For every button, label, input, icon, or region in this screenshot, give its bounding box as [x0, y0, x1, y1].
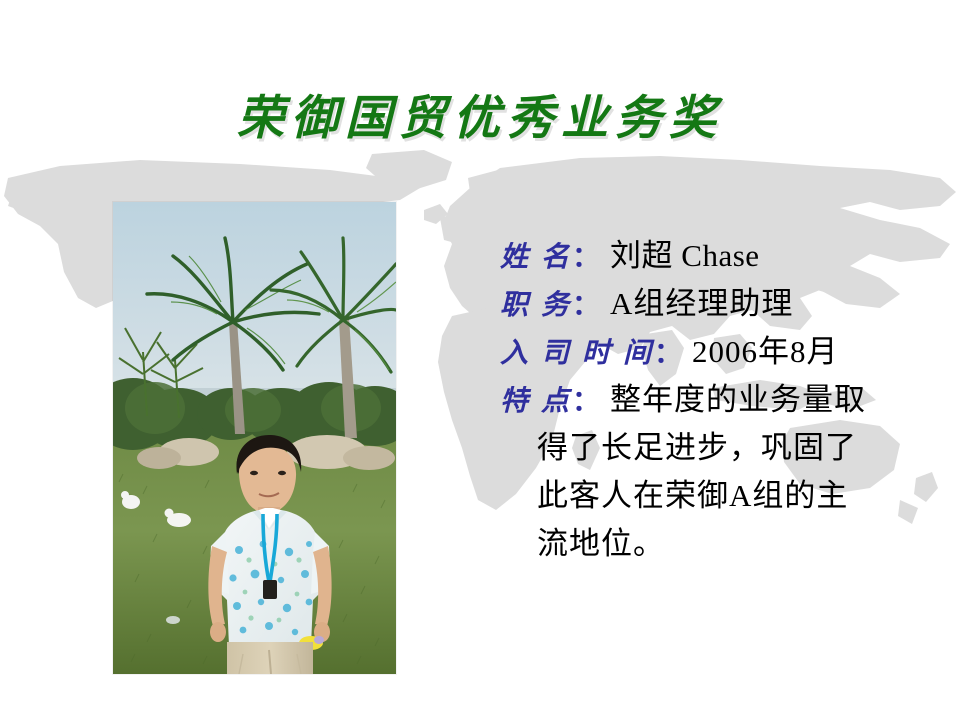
info-label-name: 姓 名 — [500, 242, 572, 273]
info-feature-line-3: 此客人在荣御A组的主 — [500, 472, 920, 520]
info-row-join-date: 入 司 时 间：2006年8月 — [500, 328, 920, 376]
info-label-join-date: 入 司 时 间 — [500, 338, 654, 369]
info-label-feature: 特 点 — [500, 386, 572, 417]
info-feature-text-3: 此客人在荣御A组的主 — [537, 478, 848, 513]
info-row-feature: 特 点：整年度的业务量取 — [500, 376, 920, 424]
info-row-position: 职 务：A组经理助理 — [500, 280, 920, 328]
info-colon-feature: ： — [572, 386, 610, 417]
info-value-join-date: 2006年8月 — [692, 334, 839, 369]
info-value-position: A组经理助理 — [610, 286, 793, 321]
award-info-block: 姓 名：刘超 Chase 职 务：A组经理助理 入 司 时 间：2006年8月 … — [500, 232, 920, 568]
info-feature-text-4: 流地位。 — [537, 526, 665, 561]
info-label-position: 职 务 — [500, 290, 572, 321]
info-feature-text-2: 得了长足进步，巩固了 — [537, 430, 857, 465]
info-value-feature: 整年度的业务量取 — [610, 382, 866, 417]
info-colon-name: ： — [572, 242, 610, 273]
info-feature-line-2: 得了长足进步，巩固了 — [500, 424, 920, 472]
info-row-name: 姓 名：刘超 Chase — [500, 232, 920, 280]
slide-canvas: 荣御国贸优秀业务奖 — [0, 0, 960, 720]
info-colon-join-date: ： — [654, 338, 692, 369]
info-value-name: 刘超 Chase — [610, 238, 760, 273]
info-feature-line-4: 流地位。 — [500, 520, 920, 568]
page-title: 荣御国贸优秀业务奖 — [0, 92, 960, 146]
info-colon-position: ： — [572, 290, 610, 321]
portrait-photo — [113, 202, 396, 674]
